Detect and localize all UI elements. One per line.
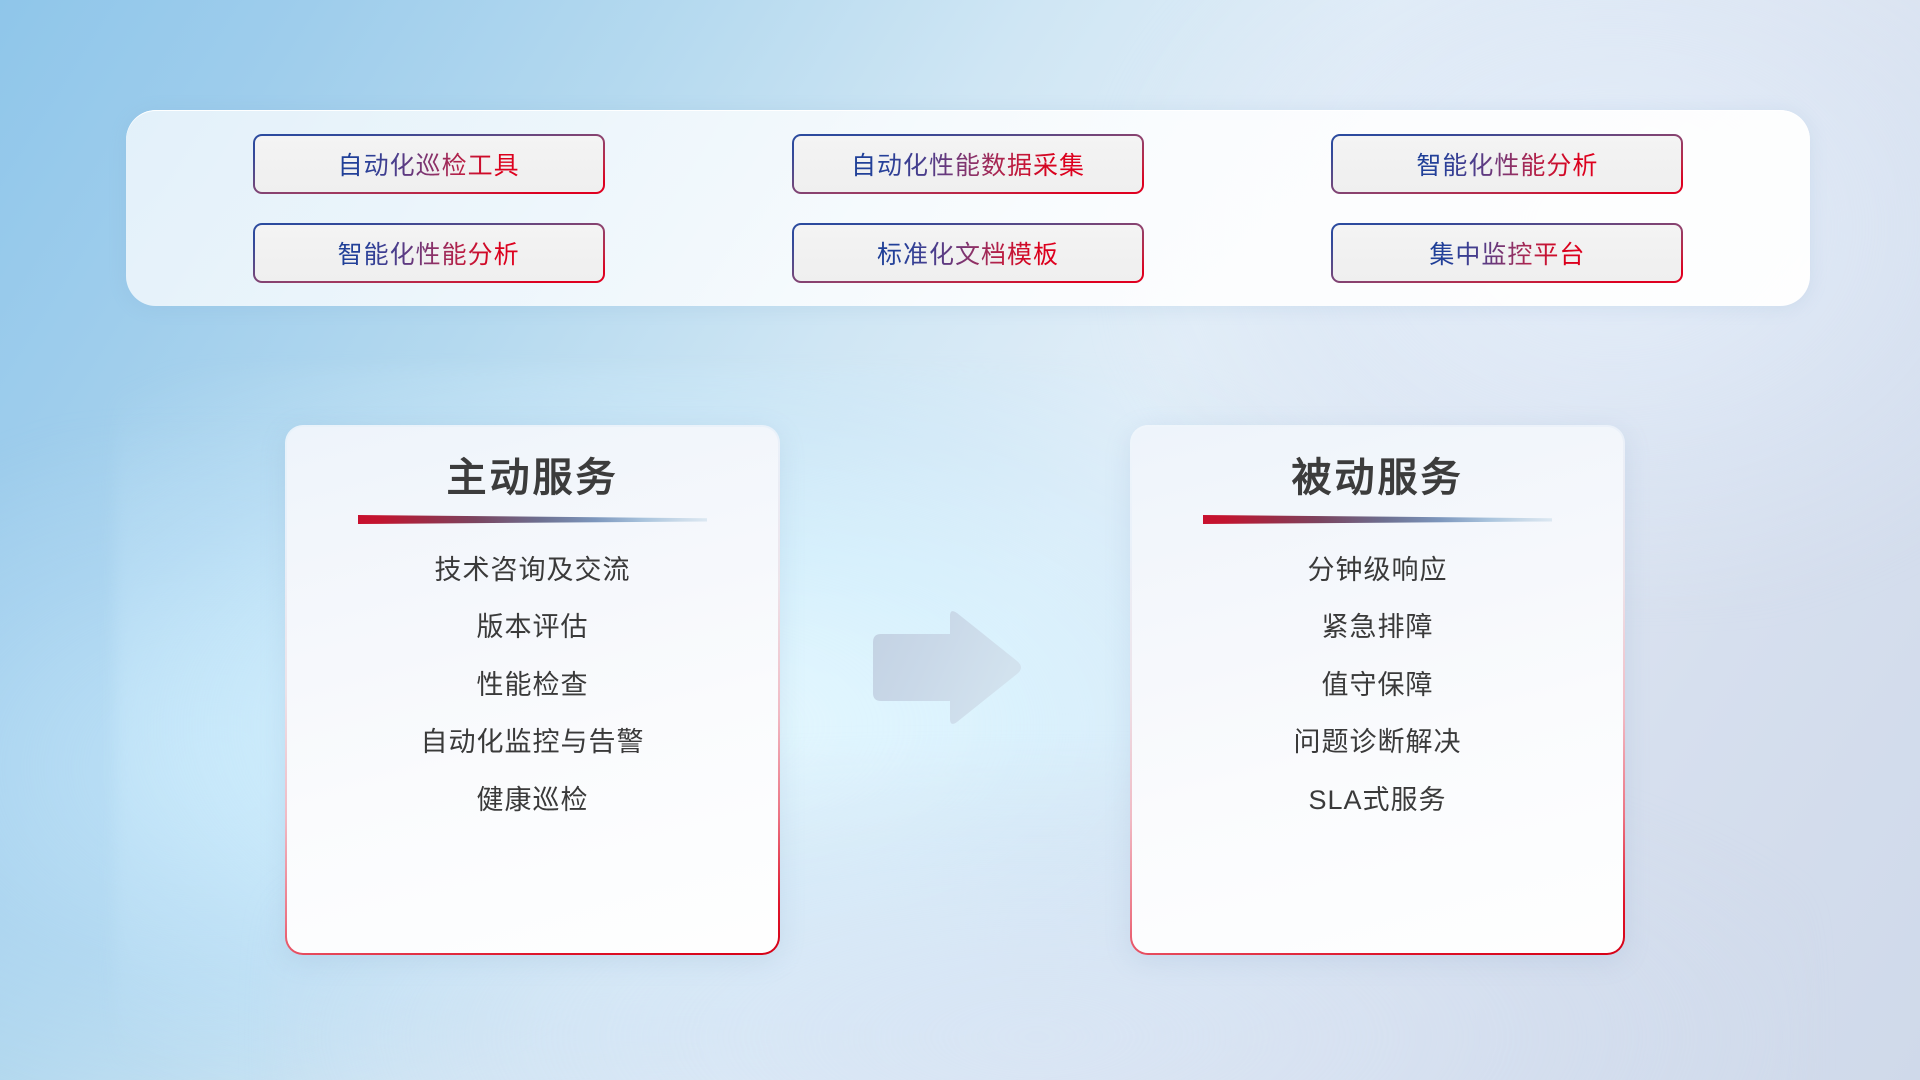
capability-pill-surface: 智能化性能分析 — [1333, 136, 1681, 192]
capability-pill-5[interactable]: 标准化文档模板 — [792, 223, 1144, 283]
service-item: 性能检查 — [477, 669, 589, 701]
capability-pill-label: 智能化性能分析 — [338, 235, 520, 271]
service-item: SLA式服务 — [1308, 784, 1446, 816]
service-card-title: 主动服务 — [447, 453, 619, 503]
capability-pill-3[interactable]: 智能化性能分析 — [1331, 134, 1683, 194]
capability-pill-surface: 标准化文档模板 — [794, 225, 1142, 281]
capability-pill-surface: 智能化性能分析 — [255, 225, 603, 281]
service-card-surface: 被动服务 分钟级响应 紧急排障 值守保障 问题诊断解决 SLA式服务 — [1132, 427, 1623, 953]
capability-pill-surface: 自动化巡检工具 — [255, 136, 603, 192]
capability-pill-label: 标准化文档模板 — [877, 235, 1059, 271]
capability-pill-label: 自动化性能数据采集 — [851, 146, 1085, 182]
card-title-divider — [358, 515, 707, 524]
service-item: 分钟级响应 — [1308, 554, 1448, 586]
service-card-active[interactable]: 主动服务 技术咨询及交流 版本评估 性能检查 自动化监控与告警 健康巡检 — [285, 425, 780, 955]
capability-pill-6[interactable]: 集中监控平台 — [1331, 223, 1683, 283]
capability-pill-label: 集中监控平台 — [1429, 235, 1585, 271]
arrow-right-icon — [865, 610, 1025, 725]
service-card-title: 被动服务 — [1292, 453, 1464, 503]
service-item: 值守保障 — [1322, 669, 1434, 701]
service-card-passive[interactable]: 被动服务 分钟级响应 紧急排障 值守保障 问题诊断解决 SLA式服务 — [1130, 425, 1625, 955]
capability-panel: 自动化巡检工具 自动化性能数据采集 智能化性能分析 智能化性能分析 标准化文档模… — [126, 110, 1810, 306]
service-item: 问题诊断解决 — [1294, 726, 1462, 758]
service-item-list: 技术咨询及交流 版本评估 性能检查 自动化监控与告警 健康巡检 — [287, 554, 778, 816]
capability-pill-1[interactable]: 自动化巡检工具 — [253, 134, 605, 194]
service-item: 版本评估 — [477, 611, 589, 643]
capability-pill-4[interactable]: 智能化性能分析 — [253, 223, 605, 283]
capability-pill-label: 智能化性能分析 — [1416, 146, 1598, 182]
capability-pill-surface: 集中监控平台 — [1333, 225, 1681, 281]
service-item: 自动化监控与告警 — [421, 726, 645, 758]
service-item: 紧急排障 — [1322, 611, 1434, 643]
card-title-divider — [1203, 515, 1552, 524]
capability-pill-label: 自动化巡检工具 — [338, 146, 520, 182]
capability-pill-2[interactable]: 自动化性能数据采集 — [792, 134, 1144, 194]
capability-pill-surface: 自动化性能数据采集 — [794, 136, 1142, 192]
service-item: 技术咨询及交流 — [435, 554, 631, 586]
service-item-list: 分钟级响应 紧急排障 值守保障 问题诊断解决 SLA式服务 — [1132, 554, 1623, 816]
service-card-surface: 主动服务 技术咨询及交流 版本评估 性能检查 自动化监控与告警 健康巡检 — [287, 427, 778, 953]
service-item: 健康巡检 — [477, 784, 589, 816]
